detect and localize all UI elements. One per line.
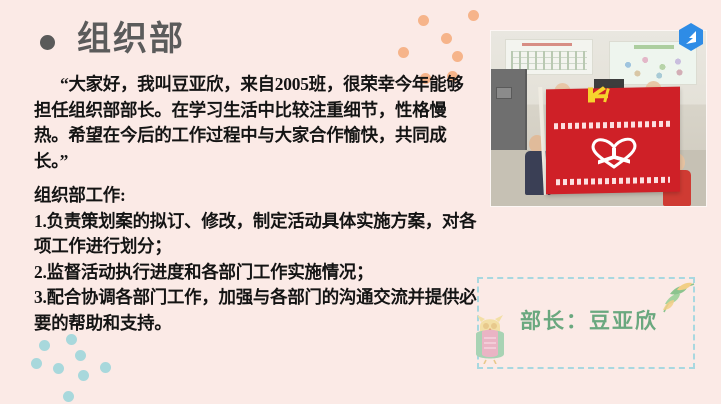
slide-canvas: 组织部 “大家好，我叫豆亚欣，来自2005班，很荣幸今年能够担任组织部部长。在学…	[0, 0, 721, 404]
caption-text: 部长：豆亚欣	[520, 305, 658, 335]
team-photo	[491, 31, 706, 206]
duties-item: 1.负责策划案的拟订、修改，制定活动具体实施方案，对各项工作进行划分；	[34, 209, 482, 260]
title-text: 组织部	[77, 22, 185, 56]
duties-item: 2.监督活动执行进度和各部门工作实施情况；	[34, 260, 482, 286]
intro-quote: “大家好，我叫豆亚欣，来自2005班，很荣幸今年能够担任组织部部长。在学习生活中…	[34, 72, 474, 174]
red-banner	[546, 87, 680, 195]
bullet-dot-icon	[40, 35, 55, 50]
page-title: 组织部	[40, 22, 185, 56]
owl-icon	[472, 310, 508, 364]
duties-heading: 组织部工作:	[34, 183, 482, 209]
duties-item: 3.配合协调各部门工作，加强与各部门的沟通交流并提供必要的帮助和支持。	[34, 285, 482, 336]
duties-block: 组织部工作: 1.负责策划案的拟订、修改，制定活动具体实施方案，对各项工作进行划…	[34, 183, 482, 336]
party-emblem-icon	[581, 82, 623, 113]
bird-badge-icon	[676, 22, 706, 52]
banner-logo-icon	[584, 133, 644, 170]
